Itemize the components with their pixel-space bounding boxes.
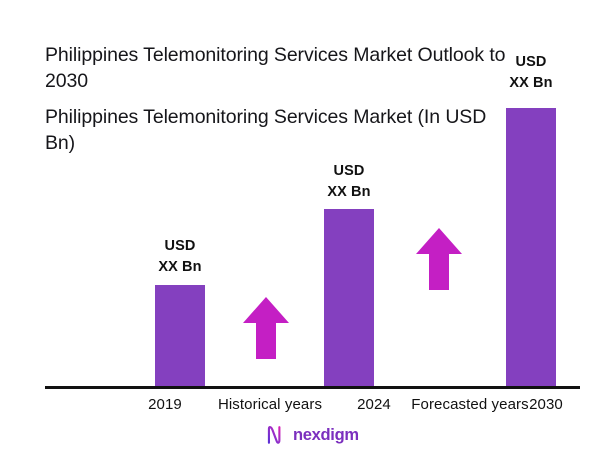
bar-value-label-2019-line-2: XX Bn	[125, 257, 235, 278]
bar-2019	[155, 285, 205, 386]
x-axis-label-historical-years: Historical years	[210, 396, 330, 413]
bar-value-label-2019: USD XX Bn	[125, 236, 235, 278]
bar-value-label-2030-line-2: XX Bn	[476, 73, 586, 94]
plot-area: USD XX Bn USD XX Bn USD XX Bn 2019 Histo…	[0, 0, 602, 451]
growth-arrow-forecast-icon	[416, 228, 462, 290]
bar-value-label-2019-line-1: USD	[125, 236, 235, 257]
bar-value-label-2024-line-2: XX Bn	[294, 182, 404, 203]
x-axis-labels: 2019 Historical years 2024 Forecasted ye…	[45, 396, 580, 420]
bar-value-label-2024-line-1: USD	[294, 161, 404, 182]
market-outlook-bar-chart: Philippines Telemonitoring Services Mark…	[0, 0, 602, 451]
bar-value-label-2030: USD XX Bn	[476, 52, 586, 94]
bar-value-label-2030-line-1: USD	[476, 52, 586, 73]
nexdigm-logo-text: nexdigm	[293, 424, 359, 446]
x-axis-line	[45, 386, 580, 389]
growth-arrow-historical-icon	[243, 297, 289, 359]
x-axis-label-2030: 2030	[506, 396, 586, 413]
bar-value-label-2024: USD XX Bn	[294, 161, 404, 203]
nexdigm-logo: nexdigm	[266, 424, 359, 446]
bar-2030	[506, 108, 556, 386]
nexdigm-n-wave-icon	[266, 424, 288, 446]
bar-2024	[324, 209, 374, 386]
x-axis-label-2019: 2019	[125, 396, 205, 413]
